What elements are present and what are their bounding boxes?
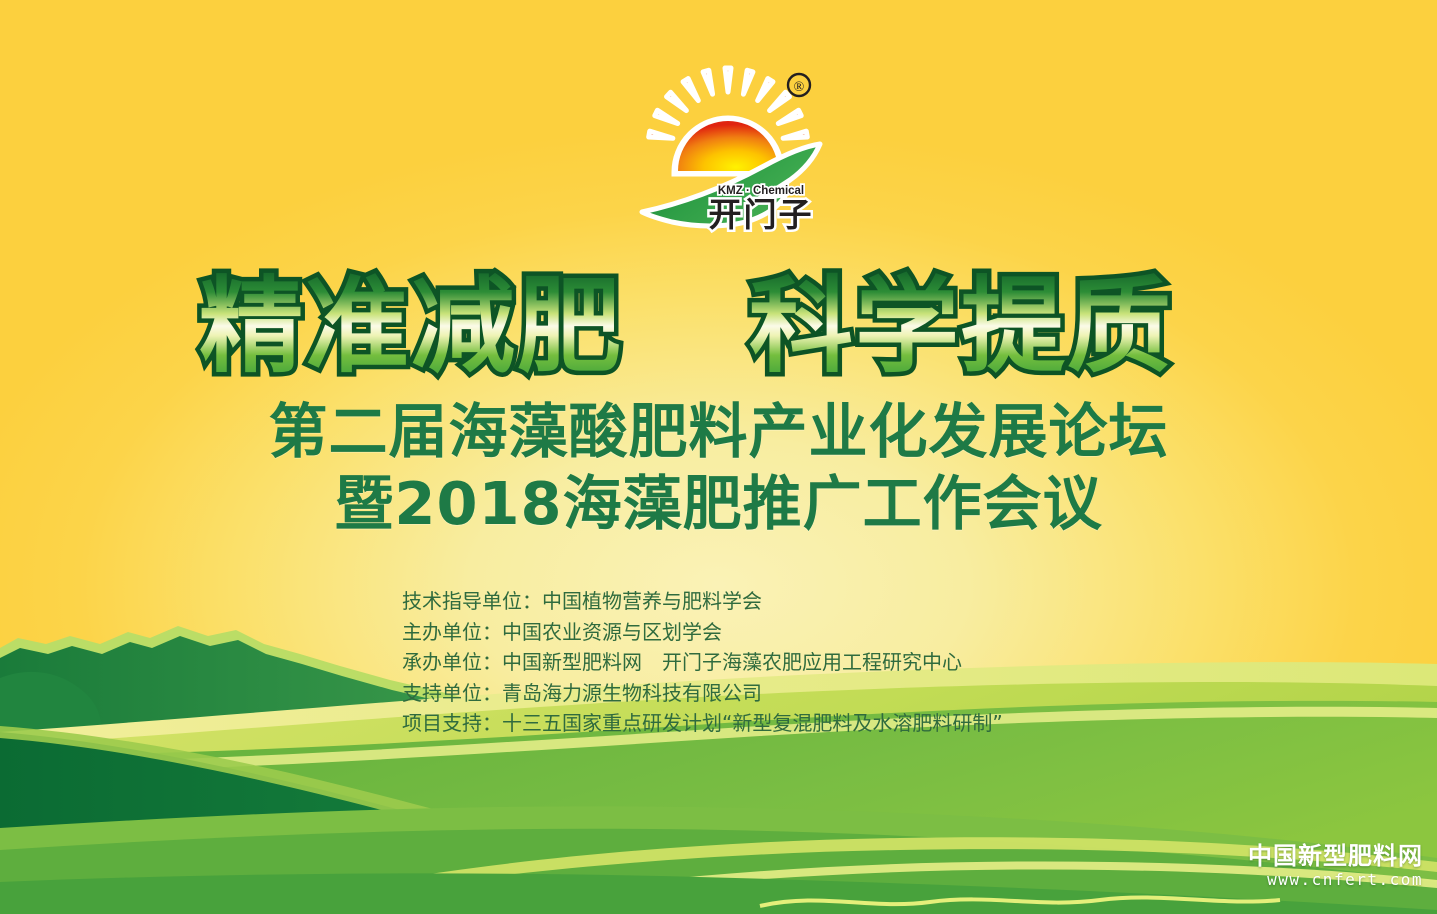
brand-cn-label: 开门子	[709, 195, 814, 234]
event-title: 第二届海藻酸肥料产业化发展论坛 暨2018海藻肥推广工作会议	[0, 396, 1437, 540]
event-title-line-1: 第二届海藻酸肥料产业化发展论坛	[0, 396, 1437, 468]
headline-part1: 精准减肥	[199, 265, 623, 387]
organizer-details: 技术指导单位：中国植物营养与肥料学会 主办单位：中国农业资源与区划学会 承办单位…	[402, 586, 1162, 739]
detail-line-supporter: 支持单位：青岛海力源生物科技有限公司	[402, 678, 1162, 709]
watermark-site-name: 中国新型肥料网	[1248, 842, 1423, 870]
headline-part2: 科学提质	[749, 265, 1173, 387]
registered-mark-glyph: ®	[794, 80, 805, 95]
registered-trademark-icon: ®	[788, 74, 810, 96]
detail-line-organizer: 承办单位：中国新型肥料网 开门子海藻农肥应用工程研究中心	[402, 647, 1162, 678]
watermark-url: www.cnfert.com	[1248, 870, 1423, 890]
kmz-logo: ® KMZ · Chemical 开门子	[628, 62, 828, 242]
event-title-line-2: 暨2018海藻肥推广工作会议	[0, 468, 1437, 540]
detail-line-technical-guidance: 技术指导单位：中国植物营养与肥料学会	[402, 586, 1162, 617]
detail-line-project-support: 项目支持：十三五国家重点研发计划“新型复混肥料及水溶肥料研制”	[402, 708, 1162, 739]
headline-slogan: 精准减肥 科学提质	[0, 262, 1437, 387]
site-watermark: 中国新型肥料网 www.cnfert.com	[1248, 842, 1423, 890]
detail-line-host: 主办单位：中国农业资源与区划学会	[402, 617, 1162, 648]
event-poster: ® KMZ · Chemical 开门子	[0, 0, 1437, 914]
